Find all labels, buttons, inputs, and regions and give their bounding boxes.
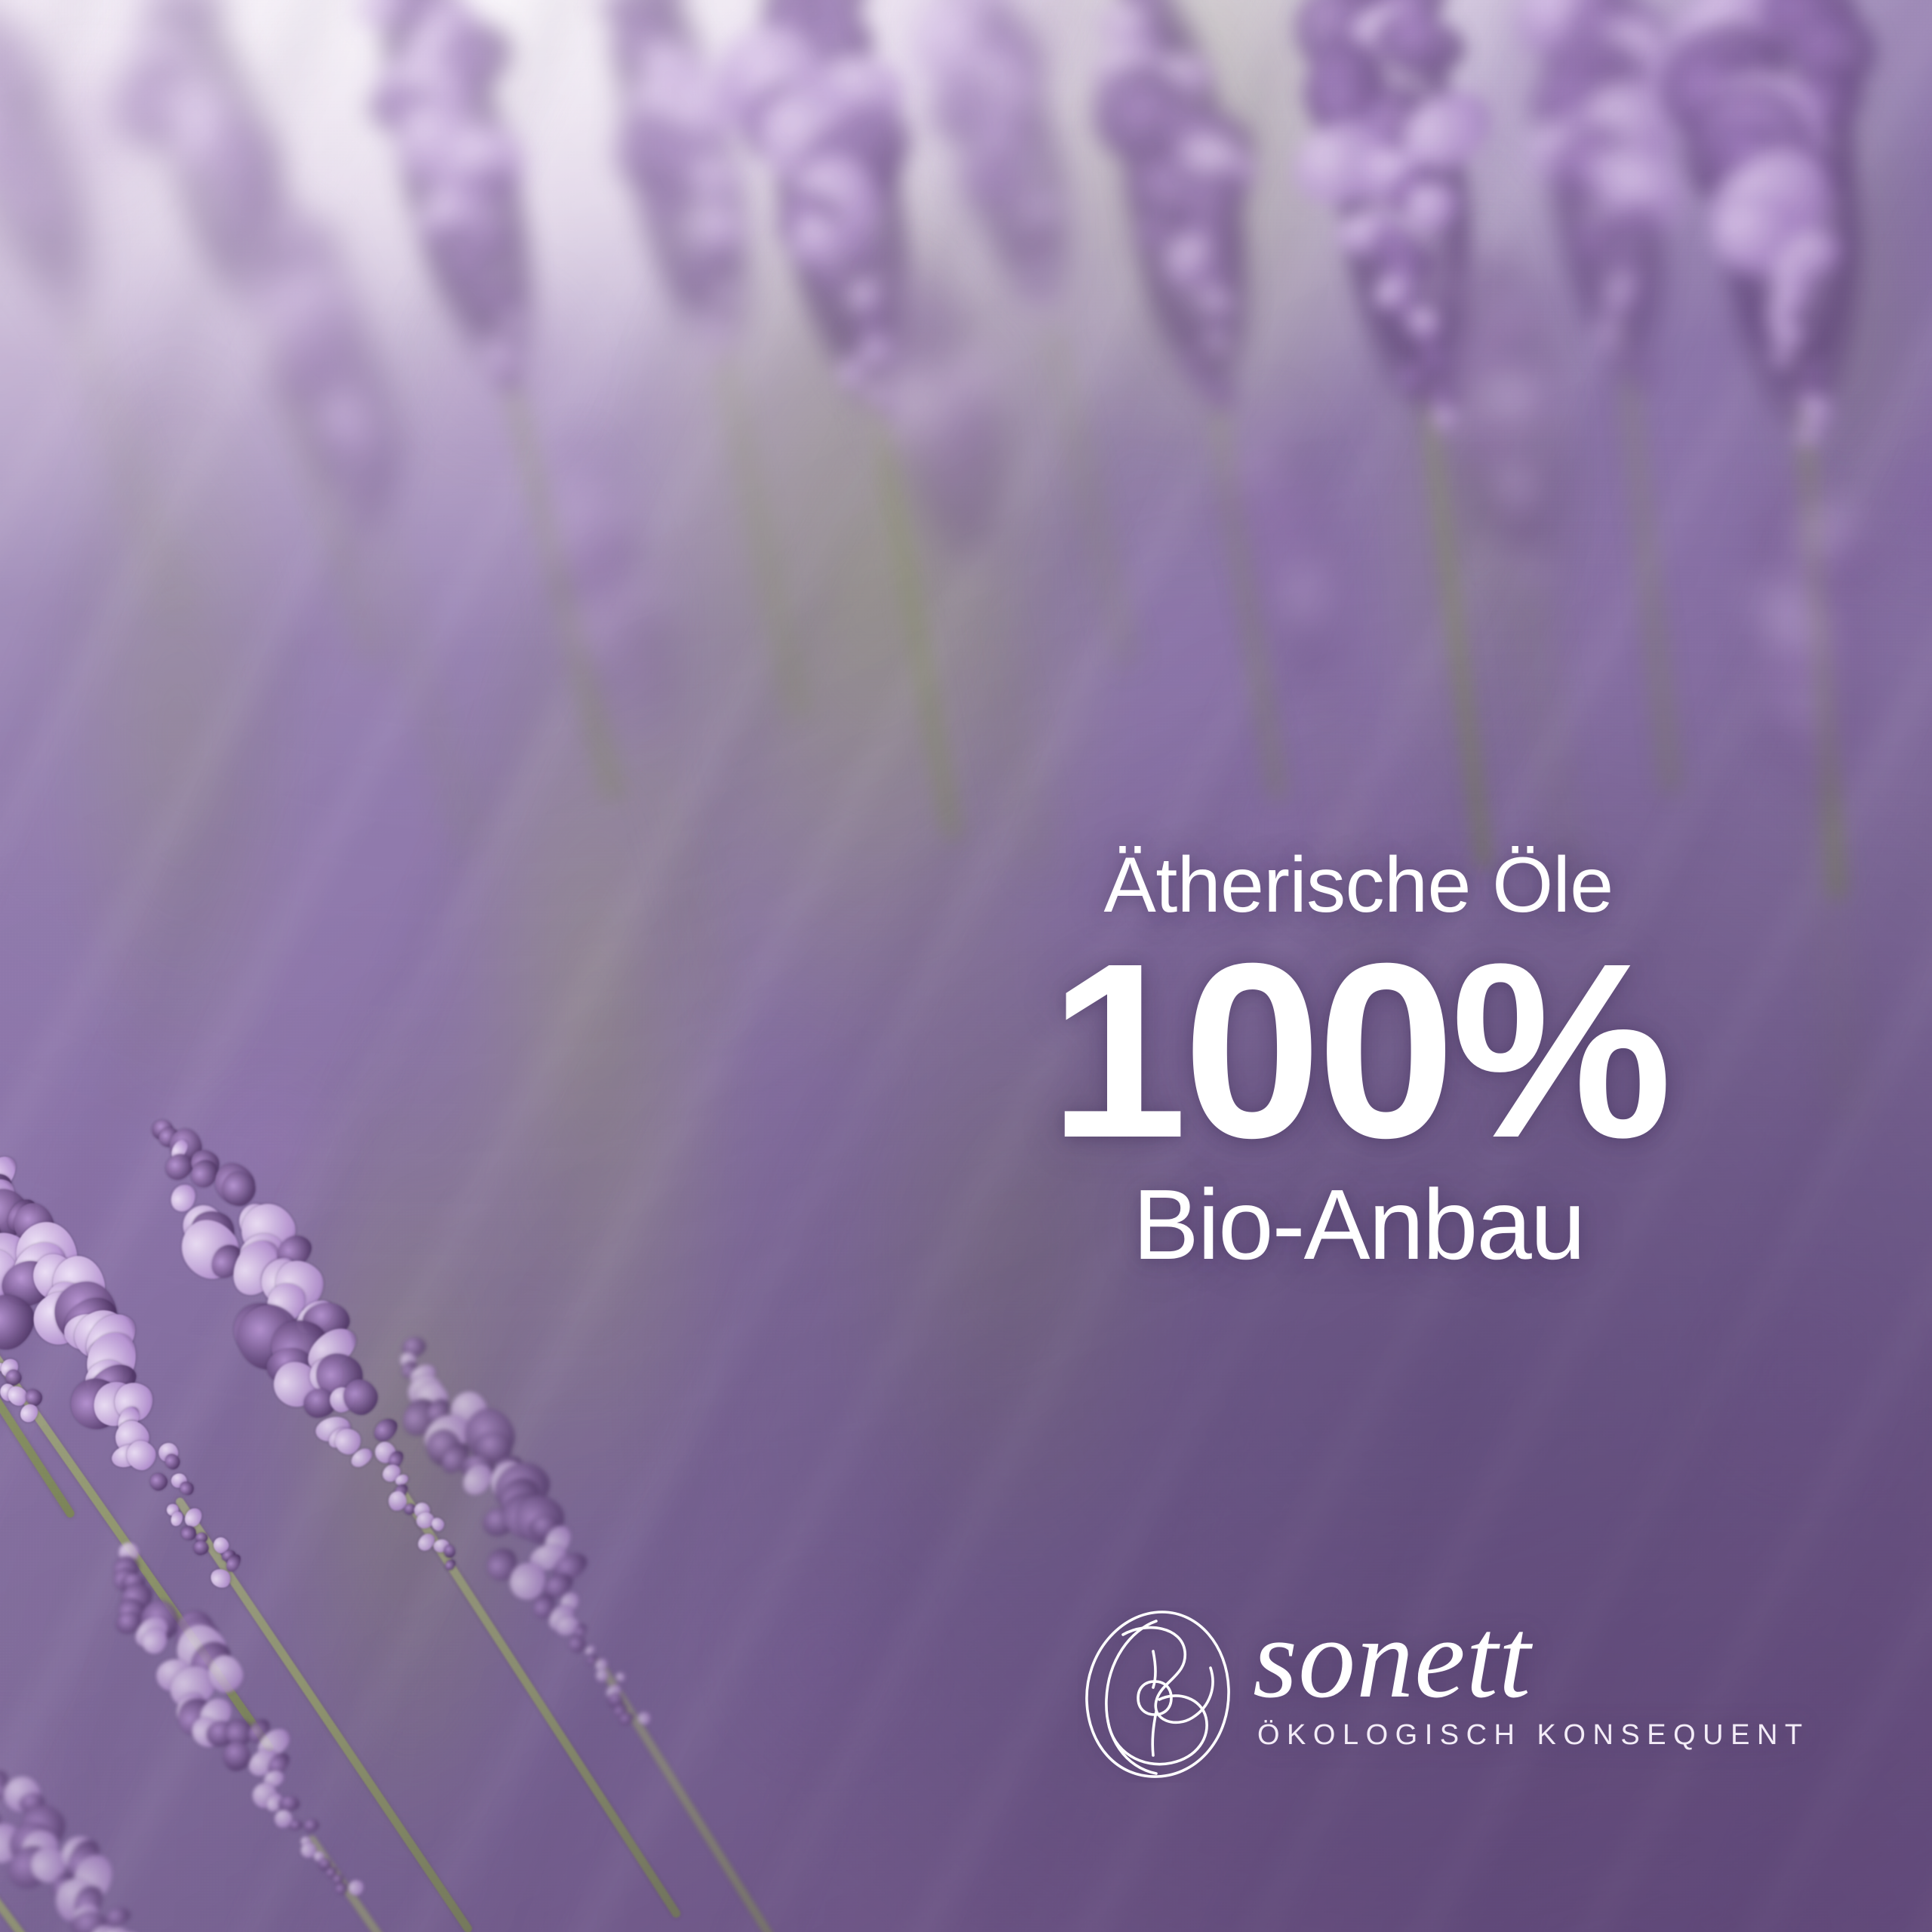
sonett-logo: sonett ÖKOLOGISCH KONSEQUENT <box>1078 1607 1636 1789</box>
sonett-wordmark: sonett <box>1253 1611 1810 1707</box>
sonett-egg-knot-icon <box>1078 1607 1239 1783</box>
headline-block: Ätherische Öle 100% Bio-Anbau <box>1019 845 1698 1275</box>
sonett-tagline: ÖKOLOGISCH KONSEQUENT <box>1257 1719 1810 1752</box>
sonett-wordmark-group: sonett ÖKOLOGISCH KONSEQUENT <box>1253 1607 1810 1752</box>
hero-percentage: 100% <box>1019 936 1698 1165</box>
poster-canvas: Ätherische Öle 100% Bio-Anbau <box>0 0 1932 1932</box>
